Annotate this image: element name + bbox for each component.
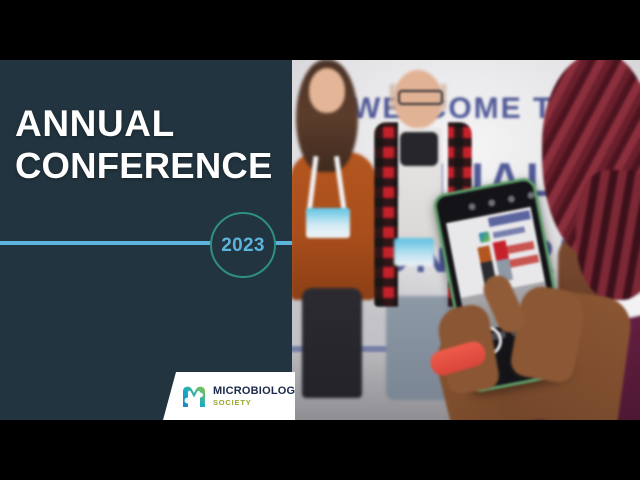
delegate-woman-face bbox=[309, 68, 345, 113]
letterbox-top bbox=[0, 0, 640, 60]
microbiology-society-m-icon bbox=[181, 384, 207, 408]
delegate-woman-badge bbox=[306, 208, 350, 238]
logo-tab: MICROBIOLOGY SOCIETY bbox=[163, 372, 295, 420]
photographer-braided-hair-lower bbox=[576, 170, 640, 300]
logo-wordmark: MICROBIOLOGY SOCIETY bbox=[213, 386, 303, 407]
title-line-1: ANNUAL bbox=[15, 103, 295, 145]
delegate-man-badge bbox=[394, 238, 434, 266]
preview-logo-icon bbox=[479, 231, 491, 243]
slide-content-band: WELCOME TO ANNUAL CONFERENCE bbox=[0, 60, 640, 420]
year-badge: 2023 bbox=[210, 212, 276, 278]
conference-photo: WELCOME TO ANNUAL CONFERENCE bbox=[290, 60, 640, 420]
letterbox-bottom bbox=[0, 420, 640, 480]
logo-lockup: MICROBIOLOGY SOCIETY bbox=[181, 384, 303, 408]
video-frame: WELCOME TO ANNUAL CONFERENCE bbox=[0, 0, 640, 480]
logo-primary-text: MICROBIOLOGY bbox=[213, 386, 303, 397]
page-title: ANNUAL CONFERENCE bbox=[15, 103, 295, 187]
year-badge-label: 2023 bbox=[221, 236, 264, 255]
delegate-man-glasses bbox=[398, 90, 443, 105]
delegate-woman-legs bbox=[302, 288, 362, 398]
logo-secondary-text: SOCIETY bbox=[213, 399, 303, 407]
title-line-2: CONFERENCE bbox=[15, 145, 295, 187]
